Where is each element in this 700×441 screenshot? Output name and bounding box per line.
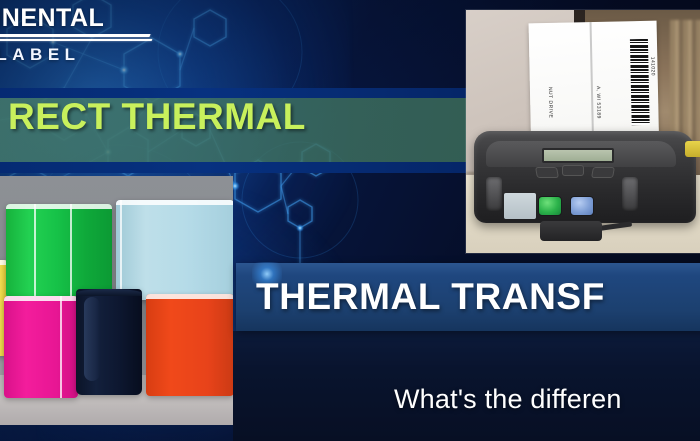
direct-thermal-stripe-bottom (0, 162, 467, 173)
direct-thermal-title: RECT THERMAL (8, 96, 306, 138)
brand-logo: NTINENTAL TALABEL (0, 4, 200, 66)
barcode-number: 141020 (649, 57, 655, 76)
printer-foot (540, 221, 602, 241)
label-roll-lightblue (116, 200, 233, 300)
video-thumbnail: NTINENTAL TALABEL RECT THERMAL 141020 NU… (0, 0, 700, 441)
label-address-a: NUT DRIVE (546, 87, 554, 118)
logo-primary-text: NTINENTAL (0, 4, 200, 33)
label-roll-navy (76, 289, 142, 395)
thermal-transfer-title: THERMAL TRANSF (256, 276, 605, 318)
label-address-b: A, WI 53189 (594, 86, 602, 119)
printer-yellow-accent (685, 141, 700, 157)
barcode-icon (630, 39, 650, 125)
feed-button-icon (570, 196, 594, 216)
label-roll-magenta (4, 296, 78, 398)
power-button-icon (538, 196, 562, 216)
printer-spec-sticker (504, 193, 536, 219)
printer-photo-books (670, 20, 700, 142)
label-roll-green (6, 204, 112, 298)
printer-vent-left (486, 177, 502, 211)
printer-keypad (536, 165, 622, 179)
label-rolls-photo (0, 176, 233, 425)
label-roll-orange (146, 294, 233, 396)
logo-secondary-text: TALABEL (0, 45, 200, 65)
printer-lcd-screen (542, 148, 614, 163)
subtitle-text: What's the differen (394, 384, 622, 415)
printer-photo: 141020 NUT DRIVE A, WI 53189 (466, 10, 700, 253)
logo-swoosh-icon (0, 34, 166, 43)
printer-vent-right (622, 177, 638, 211)
